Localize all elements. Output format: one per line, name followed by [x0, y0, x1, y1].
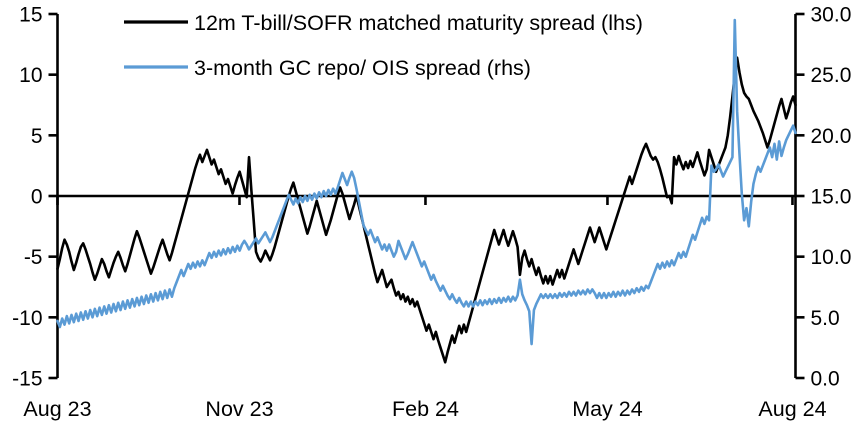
x-axis-tick-label: Feb 24 [392, 397, 459, 421]
right-axis-tick-label: 15.0 [811, 186, 852, 209]
x-axis-tick-label: Aug 24 [758, 397, 826, 421]
left-axis-tick-label: 10 [19, 64, 42, 87]
left-axis-tick-label: 0 [31, 186, 43, 209]
left-axis-tick-label: -15 [12, 368, 42, 391]
legend-label-1: 3-month GC repo/ OIS spread (rhs) [194, 56, 531, 80]
left-axis-tick-label: 15 [19, 4, 42, 27]
right-axis: 30.025.020.015.010.05.00.0 [796, 4, 852, 391]
left-axis-tick-label: 5 [31, 125, 43, 148]
legend-label-0: 12m T-bill/SOFR matched maturity spread … [194, 11, 643, 35]
right-axis-tick-label: 0.0 [811, 368, 840, 391]
left-axis-tick-label: -10 [12, 307, 42, 330]
right-axis-tick-label: 25.0 [811, 64, 852, 87]
series-line-lhs [58, 58, 796, 363]
left-axis-tick-label: -5 [24, 246, 43, 269]
x-axis-tick-label: Nov 23 [205, 397, 273, 421]
right-axis-tick-label: 30.0 [811, 4, 852, 27]
right-axis-tick-label: 10.0 [811, 246, 852, 269]
right-axis-tick-label: 5.0 [811, 307, 840, 330]
right-axis-tick-label: 20.0 [811, 125, 852, 148]
dual-axis-line-chart: 151050-5-10-15 30.025.020.015.010.05.00.… [0, 0, 852, 432]
x-axis-tick-label: May 24 [572, 397, 643, 421]
x-axis: Aug 23Nov 23Feb 24May 24Aug 24 [23, 196, 826, 421]
chart-container: 151050-5-10-15 30.025.020.015.010.05.00.… [0, 0, 852, 432]
x-axis-tick-label: Aug 23 [23, 397, 91, 421]
left-axis: 151050-5-10-15 [12, 4, 57, 391]
chart-legend: 12m T-bill/SOFR matched maturity spread … [124, 11, 643, 80]
